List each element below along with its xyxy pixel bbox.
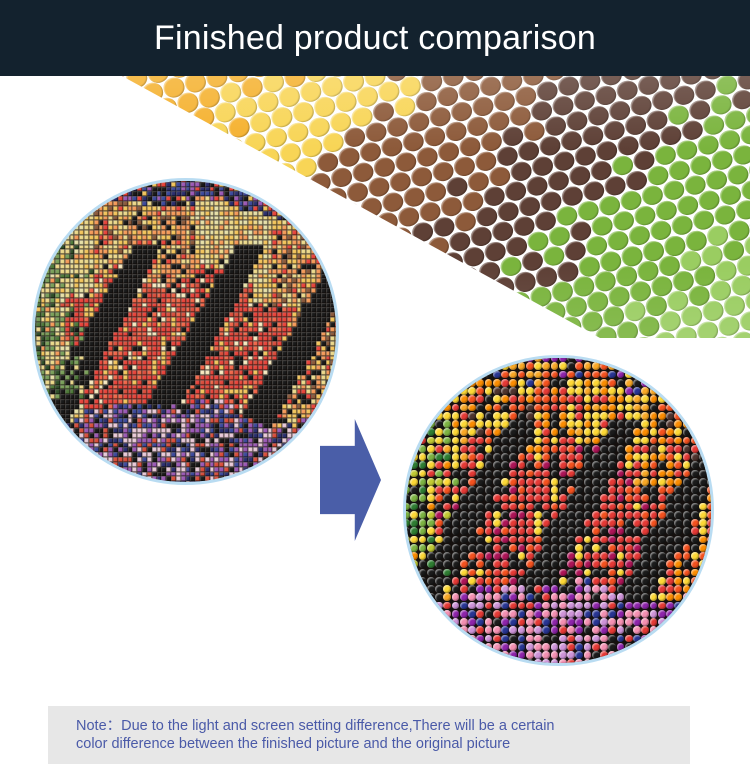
bead [56, 157, 81, 181]
bead [515, 325, 540, 338]
bead [572, 330, 597, 338]
bead [695, 319, 720, 338]
bead [33, 107, 58, 131]
bead [361, 251, 386, 275]
bead [500, 310, 525, 334]
bead [0, 248, 12, 272]
bead [0, 207, 25, 231]
bead [426, 235, 451, 259]
bead [383, 245, 408, 269]
pattern-canvas-swatch [32, 178, 339, 485]
bead [81, 76, 106, 100]
bead [348, 291, 373, 315]
bead [414, 331, 439, 338]
bead [521, 305, 546, 329]
bead [551, 335, 576, 338]
bead [406, 296, 431, 320]
bead [427, 291, 452, 315]
bead [135, 156, 160, 180]
bead [256, 146, 281, 170]
bead [17, 92, 42, 116]
bead [169, 111, 194, 135]
bead [26, 127, 51, 151]
bead [154, 96, 179, 120]
bead [442, 305, 467, 329]
bead [0, 303, 14, 327]
bead [24, 76, 49, 95]
bead [491, 275, 516, 299]
bead [75, 96, 100, 120]
bead [111, 106, 136, 130]
bead [0, 227, 19, 251]
header-bar: Finished product comparison [0, 0, 750, 76]
bead [0, 283, 20, 307]
bead [338, 201, 363, 225]
bead [157, 151, 182, 175]
bead [507, 290, 532, 314]
bead [378, 321, 403, 338]
bead [7, 187, 32, 211]
bead [2, 262, 27, 286]
bead [118, 86, 143, 110]
bead [370, 286, 395, 310]
bead [542, 300, 567, 324]
bead [384, 301, 409, 325]
bead [88, 76, 113, 80]
bead [354, 271, 379, 295]
bead [455, 265, 480, 289]
bead [346, 236, 371, 260]
bead [68, 117, 93, 141]
bead [478, 315, 503, 338]
bead [9, 76, 34, 80]
bead [97, 91, 122, 115]
bead [184, 126, 209, 150]
bead [340, 256, 365, 280]
bead [8, 242, 33, 266]
bead [54, 101, 79, 125]
bead [494, 330, 519, 338]
bead [434, 270, 459, 294]
bead [235, 151, 260, 175]
bead [120, 141, 145, 165]
bead [397, 261, 422, 285]
bead [0, 157, 2, 181]
bead [46, 76, 71, 90]
bead [47, 122, 72, 146]
bead [404, 240, 429, 264]
bead [472, 335, 497, 338]
bead [0, 82, 6, 106]
bead [60, 81, 85, 105]
bead [214, 156, 239, 180]
bead [0, 212, 3, 236]
bead [400, 316, 425, 338]
bead [90, 111, 115, 135]
bead [440, 250, 465, 274]
bead [0, 137, 8, 161]
bead [105, 126, 130, 150]
bead [0, 192, 10, 216]
bead [205, 121, 230, 145]
bead [353, 215, 378, 239]
bead [457, 320, 482, 338]
bead [178, 146, 203, 170]
bead [0, 97, 21, 121]
fine-drill-mosaic [32, 178, 339, 485]
bead [558, 315, 583, 338]
bead [389, 225, 414, 249]
bead [133, 101, 158, 125]
bead [84, 131, 109, 155]
bead [20, 147, 45, 171]
bead [39, 87, 64, 111]
bead [3, 77, 28, 101]
bead [0, 76, 12, 85]
bead [448, 285, 473, 309]
bead [0, 172, 16, 196]
bead [470, 280, 495, 304]
bead [4, 132, 29, 156]
bead [11, 112, 36, 136]
bead [485, 295, 510, 319]
bead [335, 331, 360, 338]
bead [62, 137, 87, 161]
bead [4, 318, 29, 338]
bead [191, 106, 216, 130]
bead [0, 152, 23, 176]
bead [0, 323, 7, 338]
bead [374, 210, 399, 234]
bead [435, 326, 460, 338]
bead [98, 147, 123, 171]
bead [376, 266, 401, 290]
bead [0, 117, 15, 141]
bead [77, 152, 102, 176]
bead [127, 121, 152, 145]
bead [536, 320, 561, 338]
bead [333, 276, 358, 300]
bead [419, 255, 444, 279]
bead [363, 306, 388, 330]
bead [140, 81, 165, 105]
bead [103, 76, 128, 95]
bead [199, 141, 224, 165]
bead [464, 300, 489, 324]
bead [41, 142, 66, 166]
bead [367, 231, 392, 255]
bead [341, 311, 366, 335]
bead [391, 281, 416, 305]
bead [0, 268, 6, 292]
bead [67, 76, 92, 85]
bead [221, 136, 246, 160]
page-title: Finished product comparison [0, 0, 750, 76]
bead [421, 311, 446, 335]
product-comparison-page: Finished product comparison Note：Due to … [0, 0, 750, 778]
bead [148, 116, 173, 140]
bead [13, 167, 38, 191]
bead [357, 326, 382, 338]
bead [413, 275, 438, 299]
bead [141, 136, 166, 160]
bead [393, 336, 418, 338]
bead [162, 131, 187, 155]
